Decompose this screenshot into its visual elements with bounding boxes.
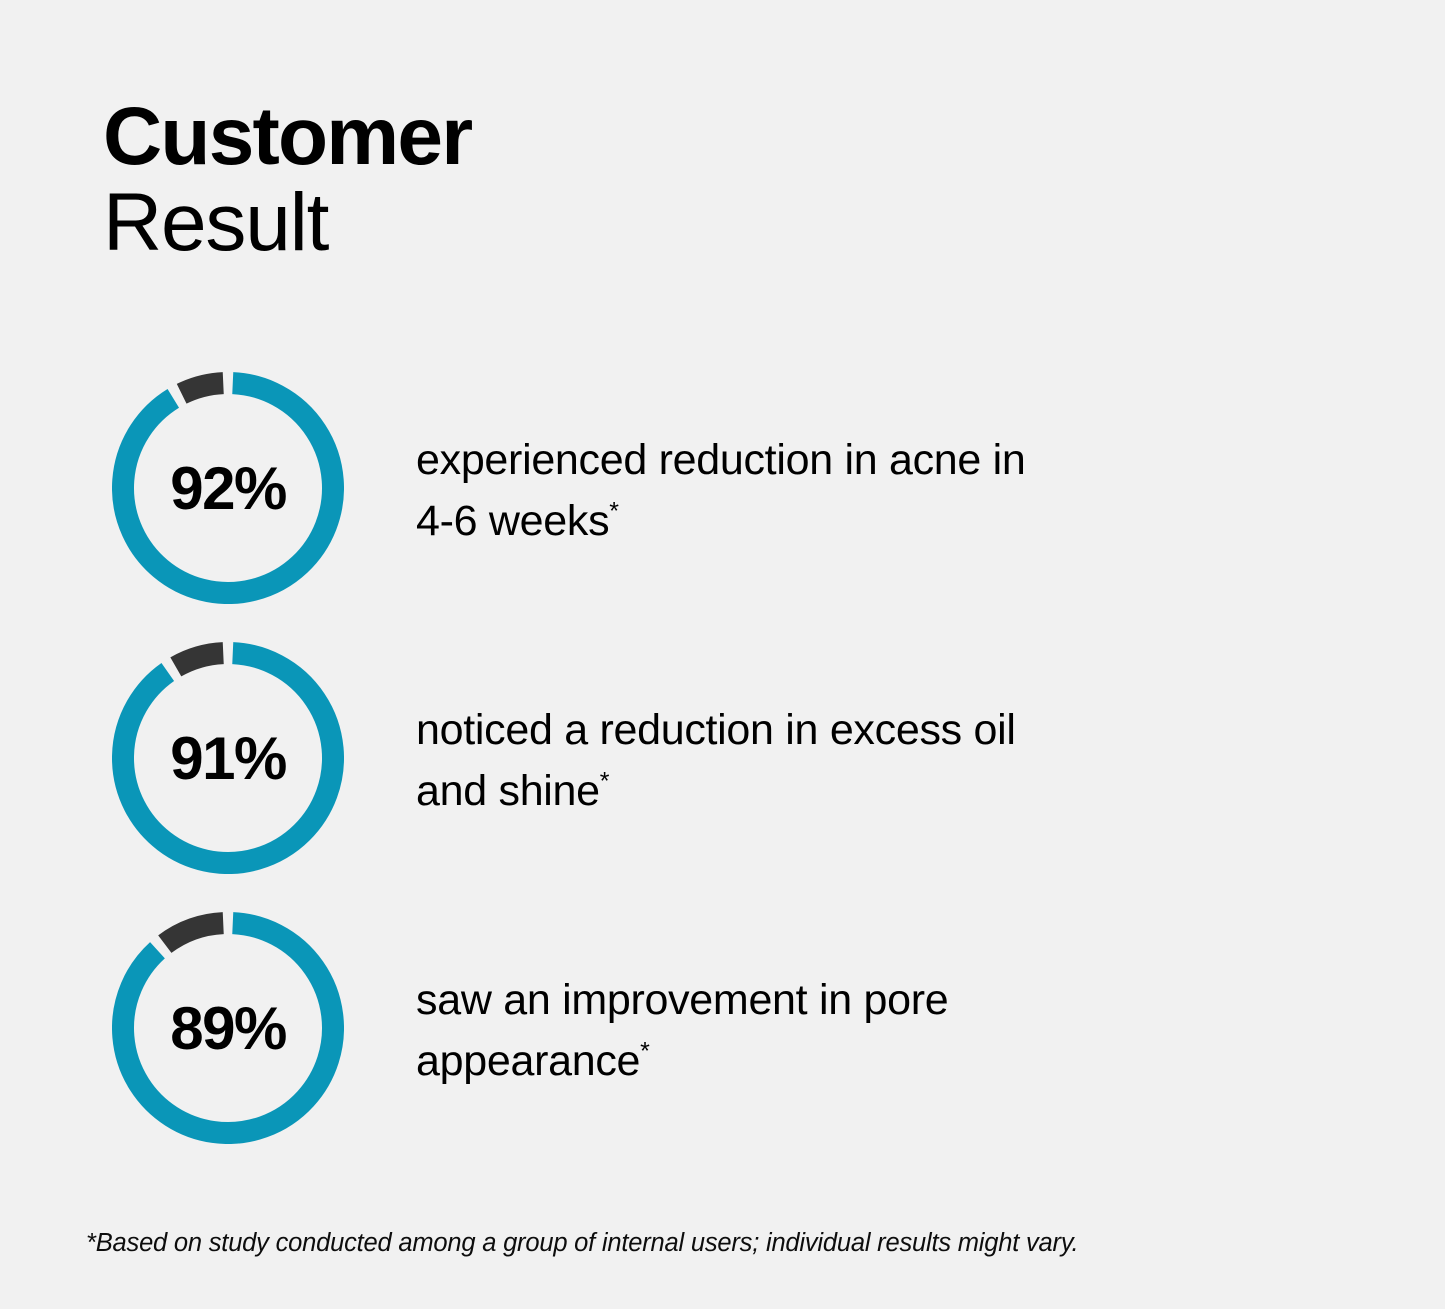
stat-description-line-1: experienced reduction in acne in bbox=[416, 436, 1026, 484]
stat-row: 91% noticed a reduction in excess oil an… bbox=[0, 642, 1445, 912]
stat-description: saw an improvement in pore appearance* bbox=[416, 912, 1246, 1092]
footnote-marker: * bbox=[609, 498, 618, 526]
stat-description-line-2: and shine bbox=[416, 767, 600, 815]
donut-percent-label: 92% bbox=[112, 372, 344, 604]
stat-description-line-2: 4-6 weeks bbox=[416, 497, 609, 545]
stat-row: 92% experienced reduction in acne in 4-6… bbox=[0, 372, 1445, 642]
infographic-page: Customer Result 92% experienced reductio… bbox=[0, 0, 1445, 1309]
donut-percent-label: 91% bbox=[112, 642, 344, 874]
page-title-line-1: Customer bbox=[103, 95, 471, 179]
footnote-marker: * bbox=[600, 768, 609, 796]
stat-description-line-1: saw an improvement in pore bbox=[416, 976, 948, 1024]
stat-row: 89% saw an improvement in pore appearanc… bbox=[0, 912, 1445, 1182]
page-title: Customer Result bbox=[103, 95, 471, 266]
donut-chart-91: 91% bbox=[112, 642, 344, 874]
footnote-marker: * bbox=[640, 1038, 649, 1066]
page-title-line-2: Result bbox=[103, 181, 471, 265]
donut-percent-label: 89% bbox=[112, 912, 344, 1144]
stat-list: 92% experienced reduction in acne in 4-6… bbox=[0, 372, 1445, 1182]
stat-description: noticed a reduction in excess oil and sh… bbox=[416, 642, 1246, 822]
footnote: *Based on study conducted among a group … bbox=[86, 1229, 1078, 1258]
stat-description-line-1: noticed a reduction in excess oil bbox=[416, 706, 1016, 754]
donut-chart-92: 92% bbox=[112, 372, 344, 604]
stat-description-line-2: appearance bbox=[416, 1037, 640, 1085]
stat-description: experienced reduction in acne in 4-6 wee… bbox=[416, 372, 1246, 552]
donut-chart-89: 89% bbox=[112, 912, 344, 1144]
